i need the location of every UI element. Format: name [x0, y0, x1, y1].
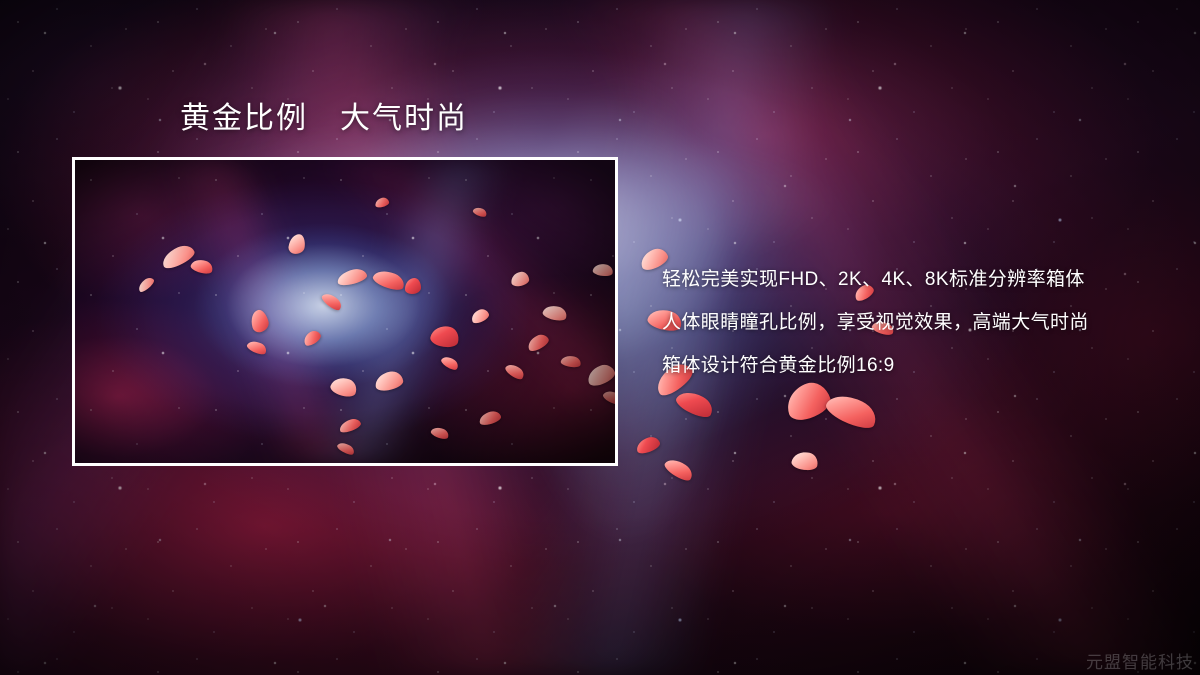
rose-petal	[472, 205, 488, 218]
rose-petal	[429, 323, 461, 350]
rose-petal	[585, 362, 617, 388]
rose-petal	[510, 271, 530, 287]
rose-petal	[674, 386, 717, 421]
rose-petal	[440, 354, 461, 372]
photo-petal-layer	[75, 160, 615, 463]
photo-vignette	[75, 160, 615, 463]
rose-petal	[288, 233, 307, 255]
rose-petal	[338, 417, 362, 434]
photo-wisp-layer	[75, 160, 615, 463]
page-title: 黄金比例 大气时尚	[180, 100, 468, 138]
rose-petal	[329, 374, 360, 400]
rose-petal	[592, 262, 614, 277]
rose-petal	[190, 257, 215, 276]
rose-petal	[248, 308, 270, 334]
petals-in-galaxy-photo	[72, 157, 618, 466]
rose-petal	[823, 388, 881, 434]
rose-petal	[336, 267, 368, 287]
rose-petal	[469, 307, 490, 325]
rose-petal	[634, 435, 661, 456]
photo-nebula-layer	[75, 160, 615, 463]
rose-petal	[790, 449, 819, 472]
rose-petal	[374, 197, 390, 209]
rose-petal	[136, 275, 156, 293]
rose-petal	[405, 278, 421, 294]
rose-petal	[560, 354, 582, 369]
rose-petal	[542, 303, 569, 323]
description-line: 箱体设计符合黄金比例16:9	[662, 344, 1182, 387]
presentation-slide: 黄金比例 大气时尚 轻松完美实现FHD、2K、4K、8K标准分辨率箱体人体眼睛瞳…	[0, 0, 1200, 675]
rose-petal	[371, 267, 407, 294]
rose-petal	[525, 332, 550, 353]
rose-petal	[662, 455, 695, 484]
description-line: 人体眼睛瞳孔比例，享受视觉效果，高端大气时尚	[662, 301, 1182, 344]
rose-petal	[301, 328, 323, 347]
rose-petal	[246, 338, 269, 357]
rose-petal	[336, 440, 356, 457]
rose-petal	[374, 370, 405, 393]
rose-petal	[320, 290, 344, 313]
rose-petal	[478, 410, 502, 427]
rose-petal	[430, 425, 450, 441]
feature-description: 轻松完美实现FHD、2K、4K、8K标准分辨率箱体人体眼睛瞳孔比例，享受视觉效果…	[662, 258, 1182, 387]
photo-starfield	[75, 160, 615, 463]
rose-petal	[504, 361, 527, 382]
rose-petal	[602, 388, 618, 407]
rose-petal	[159, 242, 197, 271]
company-watermark: 元盟智能科技	[1086, 653, 1194, 673]
description-line: 轻松完美实现FHD、2K、4K、8K标准分辨率箱体	[662, 258, 1182, 301]
